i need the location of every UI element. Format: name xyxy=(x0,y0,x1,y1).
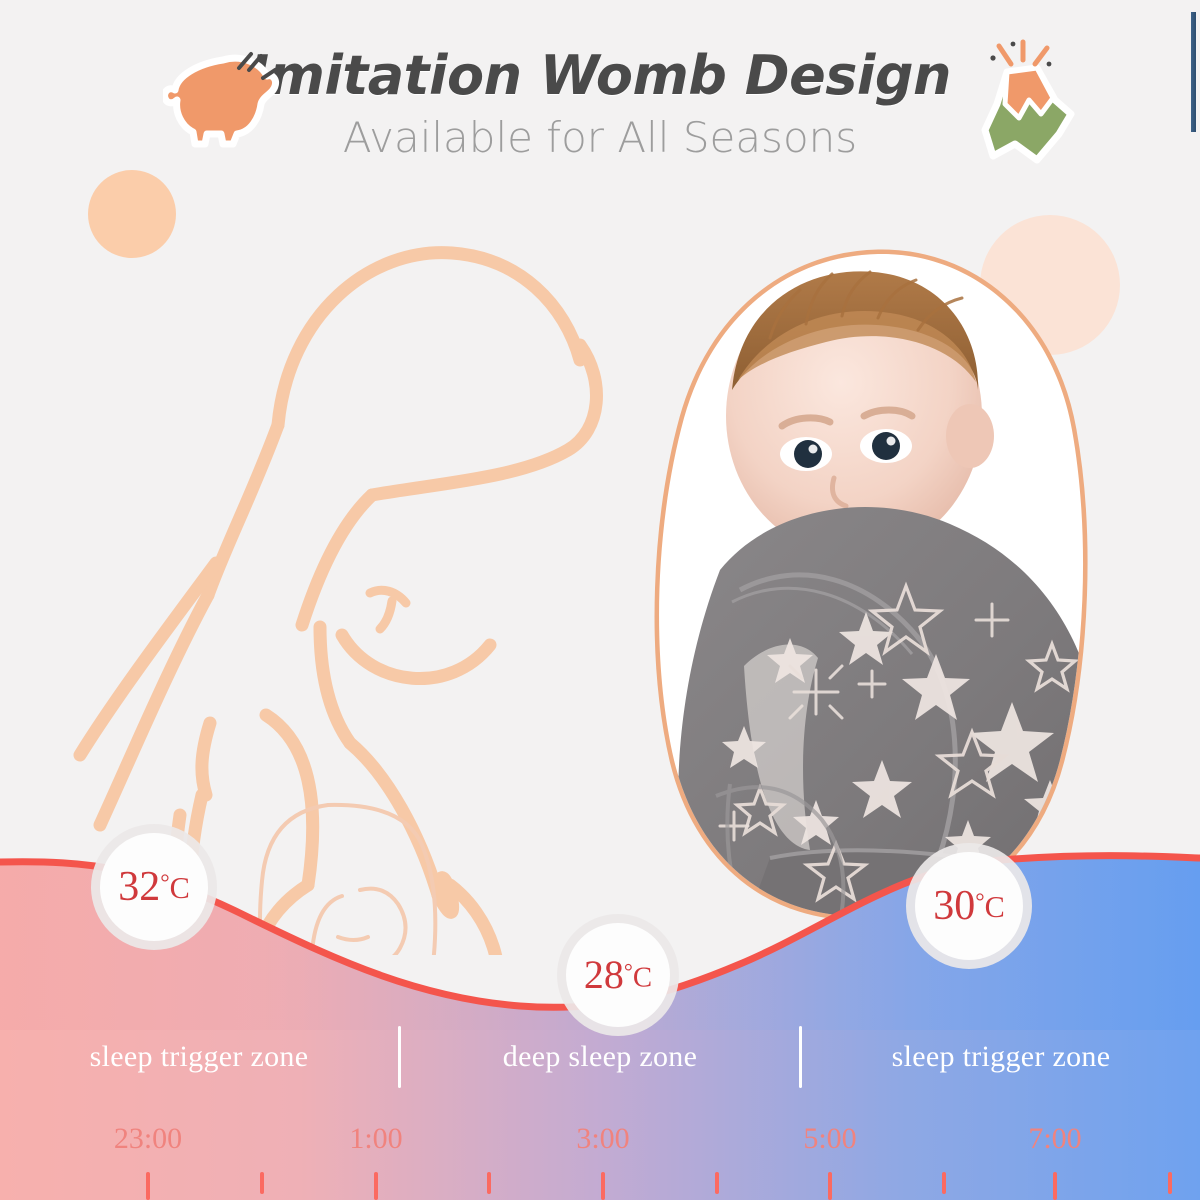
timeline-tick xyxy=(1168,1172,1172,1194)
timeline-label-5-00: 5:00 xyxy=(803,1122,856,1156)
temp-badge-30c[interactable]: 30°C xyxy=(915,852,1023,960)
volcano-icon xyxy=(963,38,1081,170)
timeline-tick xyxy=(942,1172,946,1194)
timeline-tick xyxy=(1053,1172,1057,1200)
timeline-tick xyxy=(487,1172,491,1194)
sleep-zone-labels: sleep trigger zone deep sleep zone sleep… xyxy=(0,1022,1200,1092)
zone-label-sleep-trigger-right: sleep trigger zone xyxy=(802,1040,1200,1074)
timeline-label-23-00: 23:00 xyxy=(114,1122,182,1156)
infographic-canvas: Imitation Womb Design Available for All … xyxy=(0,0,1200,1200)
timeline-axis: 23:001:003:005:007:00 xyxy=(0,1122,1200,1200)
timeline-label-3-00: 3:00 xyxy=(576,1122,629,1156)
timeline-tick xyxy=(828,1172,832,1200)
temp-badge-mid-value: 28°C xyxy=(584,955,652,995)
timeline-label-1-00: 1:00 xyxy=(349,1122,402,1156)
temp-badge-32c[interactable]: 32°C xyxy=(100,833,208,941)
timeline-tick xyxy=(260,1172,264,1194)
timeline-tick xyxy=(601,1172,605,1200)
zone-label-sleep-trigger-left: sleep trigger zone xyxy=(0,1040,398,1074)
zone-label-deep-sleep: deep sleep zone xyxy=(401,1040,799,1074)
triceratops-dinosaur-icon xyxy=(163,46,281,151)
adjacent-image-edge-sliver xyxy=(1191,12,1196,132)
timeline-label-7-00: 7:00 xyxy=(1028,1122,1081,1156)
temp-badge-left-value: 32°C xyxy=(118,866,190,908)
temp-badge-right-value: 30°C xyxy=(933,885,1005,927)
timeline-tick xyxy=(374,1172,378,1200)
temp-badge-28c[interactable]: 28°C xyxy=(566,923,670,1027)
timeline-tick xyxy=(715,1172,719,1194)
timeline-tick xyxy=(146,1172,150,1200)
